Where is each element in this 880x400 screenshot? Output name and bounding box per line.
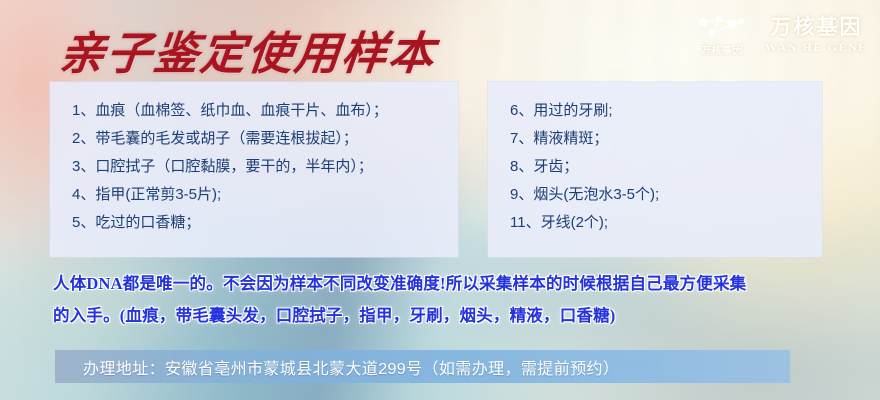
dna-note-paragraph: 人体DNA都是唯一的。不会因为样本不同改变准确度!所以采集样本的时候根据自己最方…: [53, 268, 853, 332]
sample-list-panel-right: 6、用过的牙刷; 7、精液精斑； 8、牙齿； 9、烟头(无泡水3-5个); 11…: [488, 82, 822, 257]
list-item: 6、用过的牙刷;: [510, 103, 822, 118]
poster-root: 亲子鉴定使用样本: [0, 0, 880, 400]
sample-list-panel-left: 1、血痕（血棉签、纸巾血、血痕干片、血布）； 2、带毛囊的毛发或胡子（需要连根拔…: [50, 82, 458, 257]
sample-list-right: 6、用过的牙刷; 7、精液精斑； 8、牙齿； 9、烟头(无泡水3-5个); 11…: [488, 82, 822, 230]
sample-list-left: 1、血痕（血棉签、纸巾血、血痕干片、血布）； 2、带毛囊的毛发或胡子（需要连根拔…: [50, 82, 458, 230]
list-item: 1、血痕（血棉签、纸巾血、血痕干片、血布）；: [72, 103, 458, 118]
brand-mark-label: 万核基因: [701, 42, 743, 57]
list-item: 11、牙线(2个);: [510, 215, 822, 230]
brand-name-cn: 万核基因: [771, 17, 863, 39]
page-title: 亲子鉴定使用样本: [57, 17, 440, 82]
molecule-node-icon: [695, 14, 749, 40]
list-item: 3、口腔拭子（口腔黏膜，要干的，半年内）；: [72, 159, 458, 174]
note-line-2: 的入手。(血痕，带毛囊头发，口腔拭子，指甲，牙刷，烟头，精液，口香糖): [53, 300, 853, 332]
sample-list-panels: 1、血痕（血棉签、纸巾血、血痕干片、血布）； 2、带毛囊的毛发或胡子（需要连根拔…: [50, 82, 822, 257]
list-item: 9、烟头(无泡水3-5个);: [510, 187, 822, 202]
brand-mark: 万核基因: [695, 14, 749, 57]
list-item: 8、牙齿；: [510, 159, 822, 174]
note-line-1: 人体DNA都是唯一的。不会因为样本不同改变准确度!所以采集样本的时候根据自己最方…: [53, 268, 853, 300]
list-item: 7、精液精斑；: [510, 131, 822, 146]
brand-name-en: WAN HE GENE: [765, 41, 868, 54]
list-item: 2、带毛囊的毛发或胡子（需要连根拔起）；: [72, 131, 458, 146]
brand-logo: 万核基因 万核基因 WAN HE GENE: [695, 14, 868, 57]
brand-wordmark: 万核基因 WAN HE GENE: [765, 17, 868, 54]
list-item: 4、指甲(正常剪3-5片);: [72, 187, 458, 202]
office-address-bar: 办理地址：安徽省亳州市蒙城县北蒙大道299号（如需办理，需提前预约）: [55, 350, 790, 383]
list-item: 5、吃过的口香糖；: [72, 215, 458, 230]
